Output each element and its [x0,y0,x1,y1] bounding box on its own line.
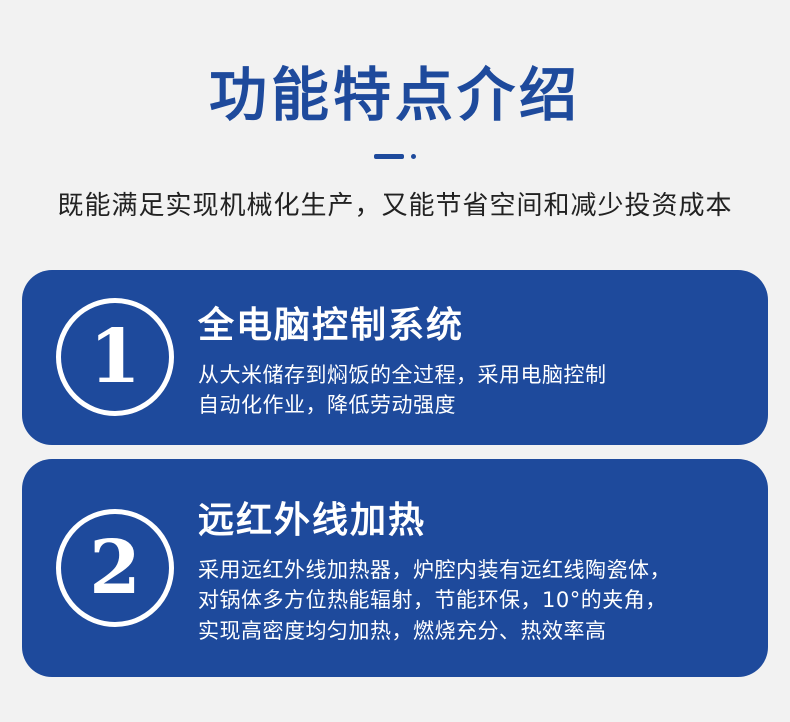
feature-line: 对锅体多方位热能辐射，节能环保，10°的夹角， [198,585,744,615]
feature-card-1: 1 全电脑控制系统 从大米储存到焖饭的全过程，采用电脑控制 自动化作业，降低劳动… [22,270,768,445]
feature-line: 采用远红外线加热器，炉腔内装有远红线陶瓷体， [198,555,744,585]
feature-heading-2: 远红外线加热 [198,491,744,543]
divider-dot [411,154,416,159]
feature-card-2: 2 远红外线加热 采用远红外线加热器，炉腔内装有远红线陶瓷体， 对锅体多方位热能… [22,459,768,677]
feature-number-badge-1: 1 [56,298,174,416]
feature-line: 实现高密度均匀加热，燃烧充分、热效率高 [198,616,744,646]
feature-card-list: 1 全电脑控制系统 从大米储存到焖饭的全过程，采用电脑控制 自动化作业，降低劳动… [0,270,790,677]
page-root: 功能特点介绍 既能满足实现机械化生产，又能节省空间和减少投资成本 1 全电脑控制… [0,0,790,722]
page-subtitle: 既能满足实现机械化生产，又能节省空间和减少投资成本 [0,185,790,222]
title-divider [0,151,790,163]
feature-heading-1: 全电脑控制系统 [198,296,744,348]
page-title: 功能特点介绍 [0,0,790,129]
divider-bar [374,154,404,159]
feature-line: 自动化作业，降低劳动强度 [198,390,744,420]
feature-card-body-1: 全电脑控制系统 从大米储存到焖饭的全过程，采用电脑控制 自动化作业，降低劳动强度 [198,294,744,421]
feature-number-badge-2: 2 [56,509,174,627]
feature-card-body-2: 远红外线加热 采用远红外线加热器，炉腔内装有远红线陶瓷体， 对锅体多方位热能辐射… [198,489,744,646]
feature-line: 从大米储存到焖饭的全过程，采用电脑控制 [198,360,744,390]
